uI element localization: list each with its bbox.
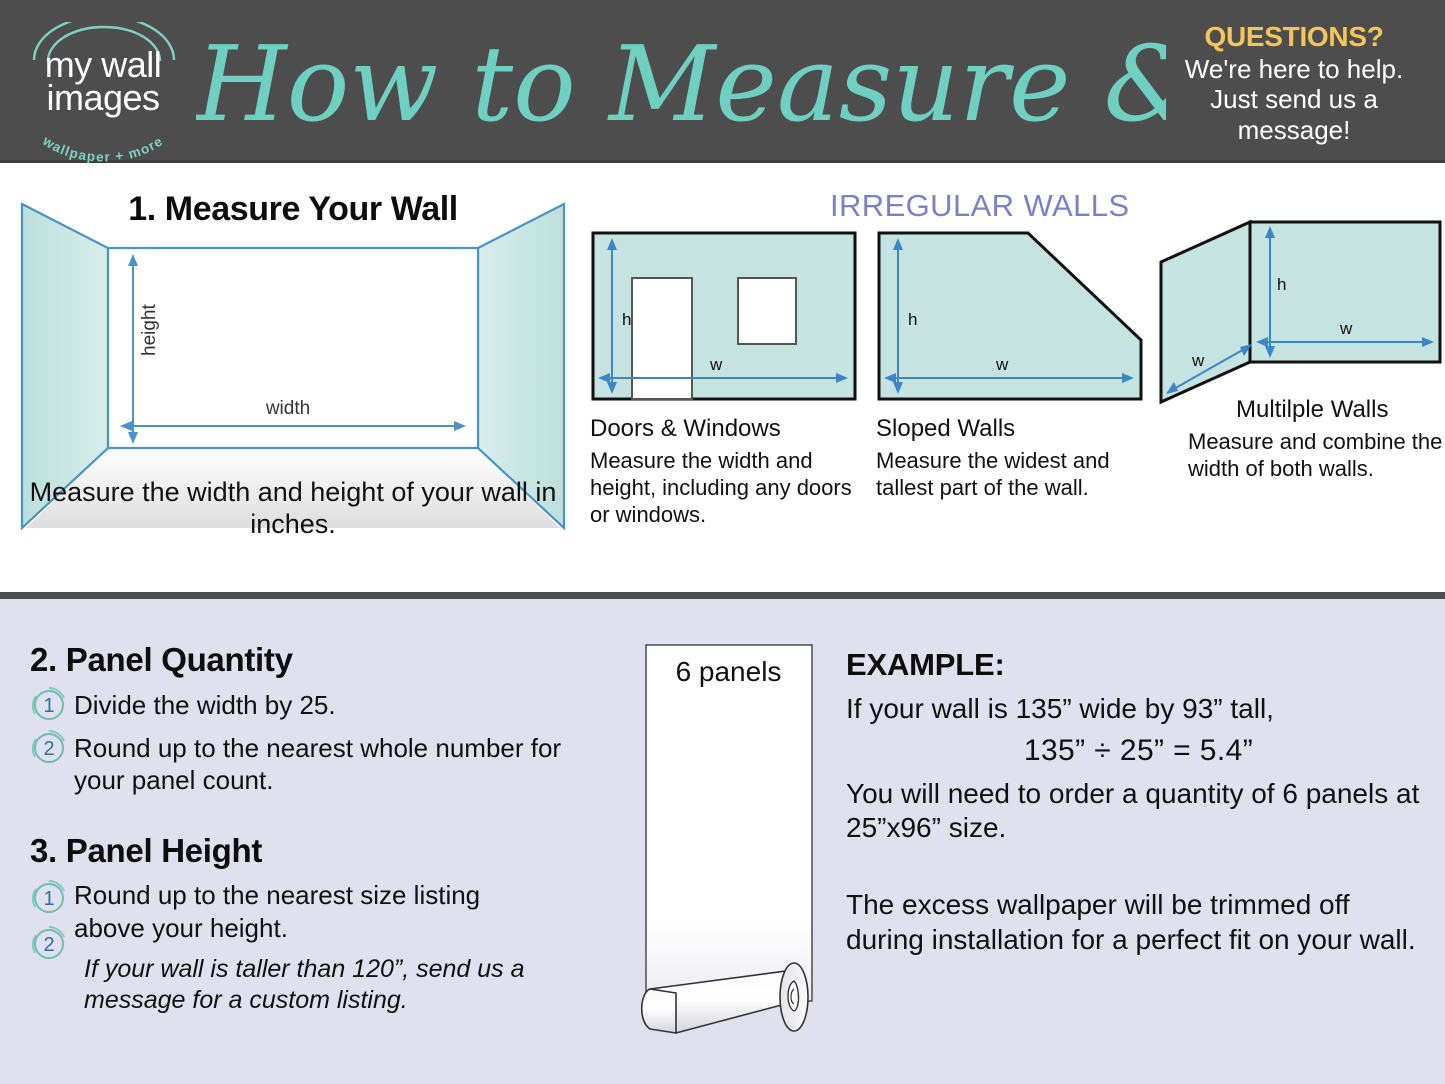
- door-shape: [632, 278, 692, 399]
- irregular-item-multiple: h w w Multilple Walls Measure and combin…: [1158, 210, 1445, 483]
- marker-2-icon-step3: 2: [30, 925, 74, 971]
- step3-line-2: above your height.: [74, 912, 590, 944]
- steps-column: 2. Panel Quantity 1 Divide the width by …: [30, 641, 590, 1016]
- svg-text:h: h: [622, 310, 631, 329]
- svg-text:w: w: [995, 355, 1009, 374]
- step2-bullet-1: 1 Divide the width by 25.: [30, 688, 590, 722]
- example-equation: 135” ÷ 25” = 5.4”: [846, 734, 1431, 768]
- svg-text:h: h: [908, 310, 917, 329]
- example-heading: EXAMPLE:: [846, 647, 1431, 683]
- step3-markers: 1 2: [30, 879, 74, 971]
- example-line-3: The excess wallpaper will be trimmed off…: [846, 888, 1431, 956]
- measure-section: 1. Measure Your Wall height width Measur…: [0, 166, 1445, 594]
- header-bar: my wall images wallpaper + more How to M…: [0, 0, 1445, 163]
- step2-bullet-2-text: Round up to the nearest whole number for…: [74, 731, 590, 796]
- svg-text:2: 2: [43, 934, 54, 956]
- irregular-desc-2: Measure the widest and tallest part of t…: [876, 448, 1151, 502]
- step1-height-label: height: [139, 304, 161, 356]
- ordering-section: 2. Panel Quantity 1 Divide the width by …: [0, 599, 1445, 1084]
- marker-1-icon-step3: 1: [30, 879, 74, 925]
- example-spacer: [846, 845, 1431, 879]
- svg-text:h: h: [1277, 275, 1286, 294]
- step1-caption: Measure the width and height of your wal…: [8, 476, 578, 541]
- multiple-walls-diagram: h w w: [1158, 210, 1443, 405]
- roll-left-end: [642, 989, 676, 1033]
- step3-text-block: Round up to the nearest size listing abo…: [74, 879, 590, 1016]
- step1-block: 1. Measure Your Wall height width Measur…: [8, 176, 578, 546]
- step1-title: 1. Measure Your Wall: [8, 190, 578, 229]
- example-line-1: If your wall is 135” wide by 93” tall,: [846, 692, 1431, 726]
- sloped-wall-diagram: h w: [876, 230, 1144, 402]
- step3-title: 3. Panel Height: [30, 832, 590, 870]
- svg-text:2: 2: [43, 738, 54, 760]
- brand-logo: my wall images wallpaper + more: [18, 22, 188, 154]
- questions-body: We're here to help. Just send us a messa…: [1159, 54, 1429, 145]
- marker-2-icon: 2: [30, 731, 74, 765]
- step3-note: If your wall is taller than 120”, send u…: [84, 954, 590, 1017]
- irregular-item-sloped: h w Sloped Walls Measure the widest and …: [876, 230, 1151, 502]
- questions-block: QUESTIONS? We're here to help. Just send…: [1159, 22, 1429, 145]
- wallpaper-roll-illustration: 6 panels: [636, 641, 846, 1071]
- page-title: How to Measure & Order: [196, 8, 1166, 158]
- roll-label: 6 panels: [636, 656, 821, 688]
- irregular-title-1: Doors & Windows: [590, 415, 865, 443]
- doors-windows-diagram: h w: [590, 230, 858, 402]
- irregular-desc-3: Measure and combine the width of both wa…: [1188, 429, 1445, 483]
- example-line-2: You will need to order a quantity of 6 p…: [846, 777, 1431, 845]
- infographic-page: my wall images wallpaper + more How to M…: [0, 0, 1445, 1084]
- step3-body: 1 2 Round up to the nearest size listing: [30, 879, 590, 1016]
- logo-line-2: images: [18, 81, 188, 114]
- step1-width-label: width: [8, 398, 568, 420]
- logo-tagline: wallpaper + more: [23, 118, 183, 164]
- step2-bullet-2: 2 Round up to the nearest whole number f…: [30, 731, 590, 796]
- svg-text:wallpaper + more: wallpaper + more: [39, 133, 166, 164]
- panel-sheet: [646, 645, 812, 1001]
- irregular-item-doors-windows: h w Doors & Windows Measure the width an…: [590, 230, 865, 528]
- example-block: EXAMPLE: If your wall is 135” wide by 93…: [846, 647, 1431, 957]
- irregular-desc-1: Measure the width and height, including …: [590, 448, 865, 528]
- marker-1-icon: 1: [30, 688, 74, 722]
- irregular-walls-heading: IRREGULAR WALLS: [830, 188, 1190, 224]
- irregular-title-2: Sloped Walls: [876, 415, 1151, 443]
- step3-line-1: Round up to the nearest size listing: [74, 879, 590, 911]
- questions-heading: QUESTIONS?: [1159, 22, 1429, 53]
- svg-text:w: w: [709, 355, 723, 374]
- svg-text:1: 1: [43, 695, 54, 717]
- section-divider: [0, 592, 1445, 599]
- window-shape: [738, 278, 796, 344]
- svg-text:w: w: [1339, 319, 1353, 338]
- svg-text:1: 1: [43, 888, 54, 910]
- svg-text:How to Measure & Order: How to Measure & Order: [196, 23, 1166, 145]
- angled-wall: [1161, 222, 1250, 402]
- step2-title: 2. Panel Quantity: [30, 641, 590, 679]
- logo-wordmark: my wall images: [18, 48, 188, 114]
- svg-text:w: w: [1191, 351, 1205, 370]
- step2-bullet-1-text: Divide the width by 25.: [74, 688, 336, 721]
